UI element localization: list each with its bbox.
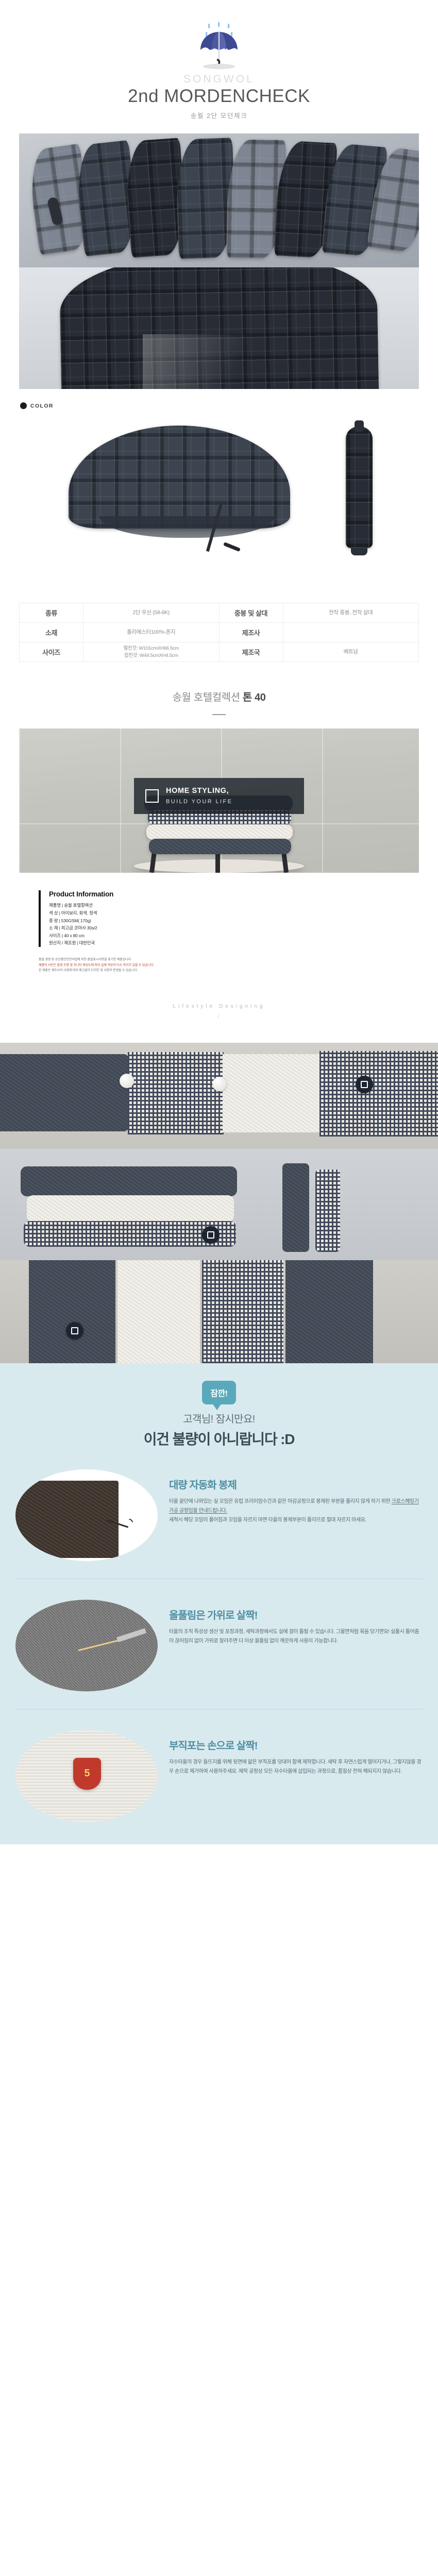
list-item: 원산지 / 제조원 | 대한민국 <box>49 939 399 947</box>
towel-hem-thread-photo <box>15 1469 158 1561</box>
spec-key: 제조사 <box>219 623 283 642</box>
towel-loose-loop-photo <box>15 1600 158 1691</box>
banner-line-2: BUILD YOUR LIFE <box>166 799 232 805</box>
page-subtitle: 송월 2단 모던체크 <box>0 110 438 120</box>
towel-section-title: 송월 호텔컬렉션 톤 40 <box>0 689 438 704</box>
lifestyle-divider: Lifestyle Designing / <box>0 974 438 1043</box>
list-item: 색 상 | 아이보리, 회색, 청색 <box>49 909 399 917</box>
umbrella-rain-icon <box>188 21 250 71</box>
towel-nonwoven-crest-photo: 5 <box>15 1730 158 1822</box>
towel-detail-photo-folded-stack <box>0 1043 438 1149</box>
product-information-block: Product Information 제품명 | 송월 호텔컬렉션 색 상 |… <box>39 890 399 947</box>
attention-badge: 잠깐! <box>202 1381 236 1404</box>
feature-body: 타올의 조직 특성상 생산 및 포장과정, 세탁과정에서도 실에 걸이 틀릴 수… <box>169 1628 423 1646</box>
feature-text: 대량 자동화 봉제 타올 끝단에 나와있는 실 꼬임은 유럽 프리미엄수건과 같… <box>169 1469 423 1526</box>
towel-hero-photo: HOME STYLING, BUILD YOUR LIFE <box>19 728 419 873</box>
spec-value <box>283 623 419 642</box>
brand-eyebrow: SONGWOL <box>0 73 438 85</box>
list-item: 제품명 | 송월 호텔컬렉션 <box>49 902 399 909</box>
list-item: 소 재 | 최고급 코마사 30s/2 <box>49 924 399 932</box>
feature-title: 올풀림은 가위로 살짝! <box>169 1607 423 1622</box>
towel-detail-photo-hanging <box>0 1260 438 1363</box>
blue-headline-big: 이건 불량이 아니랍니다 :D <box>0 1428 438 1449</box>
stool <box>134 859 304 873</box>
feature-body-after: 세척시 헤당 꼬임이 풀어짐과 꼬임을 자르지 마면 타올의 봉제부분이 풀리므… <box>169 1517 366 1523</box>
divider <box>15 1709 423 1709</box>
color-section-header: COLOR <box>19 402 419 409</box>
towel-section-header: 송월 호텔컬렉션 톤 40 <box>0 662 438 715</box>
feature-title: 부직포는 손으로 살짝! <box>169 1737 423 1752</box>
crest-emblem: 5 <box>73 1758 101 1790</box>
color-swatch-black[interactable] <box>20 402 27 409</box>
spec-key: 소재 <box>20 623 83 642</box>
spec-value: 폴리에스터100%-폰지 <box>83 623 220 642</box>
page-title: 2nd MORDENCHECK <box>0 86 438 107</box>
towel-title-plain: 송월 호텔컬렉션 <box>173 692 243 703</box>
product-information-heading: Product Information <box>49 890 399 898</box>
spec-key: 중봉 및 살대 <box>219 603 283 623</box>
blue-headline-small: 고객님! 잠시만요! <box>0 1411 438 1426</box>
feature-row: 5 부직포는 손으로 살짝! 자수타올의 경우 들뜨지를 위해 뒷면에 얇은 부… <box>15 1730 423 1822</box>
feature-text: 부직포는 손으로 살짝! 자수타올의 경우 들뜨지를 위해 뒷면에 얇은 부직포… <box>169 1730 423 1776</box>
list-item: 중 량 | 530GSM( 170g) <box>49 917 399 925</box>
attention-badge-label: 잠깐! <box>210 1386 227 1399</box>
product-photo-canopy-closeup <box>19 267 419 389</box>
product-photo-color-variant <box>19 414 419 584</box>
feature-body: 자수타올의 경우 들뜨지를 위해 뒷면에 얇은 부직포를 덧대어 함께 제작합니… <box>169 1758 423 1776</box>
list-item: 사이즈 | 40 x 80 cm <box>49 932 399 940</box>
table-row: 소재 폴리에스터100%-폰지 제조사 <box>20 623 419 642</box>
table-row: 사이즈 펼친것: W101cmXH66.5cm 접힌것: W44.5cmXH4.… <box>20 642 419 662</box>
spec-table-wrap: 종류 2단 우산 (58-8K) 중봉 및 살대 전착 중봉, 전착 살대 소재… <box>19 603 419 662</box>
feature-row: 올풀림은 가위로 살짝! 타올의 조직 특성상 생산 및 포장과정, 세탁과정에… <box>15 1600 423 1691</box>
product-photo-folded-lineup <box>19 133 419 267</box>
brand-emblem <box>356 1076 373 1093</box>
legal-notes: 품질 경영 및 공산품안전관리법에 의한 품질표시사항을 표기한 제품입니다. … <box>39 957 399 974</box>
spec-value: 펼친것: W101cmXH66.5cm 접힌것: W44.5cmXH4.5cm <box>83 642 220 662</box>
frame-icon <box>145 789 159 803</box>
legal-line: 본 제품은 제조사의 사정에 따라 예고없이 디자인 및 사양이 변경될 수 있… <box>39 968 399 974</box>
towel-detail-photo-rolled <box>0 1149 438 1260</box>
product-detail-page: SONGWOL 2nd MORDENCHECK 송월 2단 모던체크 <box>0 0 438 1844</box>
spec-value: 베트남 <box>283 642 419 662</box>
hero-header: SONGWOL 2nd MORDENCHECK 송월 2단 모던체크 <box>0 0 438 133</box>
brand-emblem <box>202 1226 220 1244</box>
feature-text: 올풀림은 가위로 살짝! 타올의 조직 특성상 생산 및 포장과정, 세탁과정에… <box>169 1600 423 1646</box>
color-label: COLOR <box>30 403 54 409</box>
spec-key: 종류 <box>20 603 83 623</box>
spec-key: 제조국 <box>219 642 283 662</box>
spec-value: 전착 중봉, 전착 살대 <box>283 603 419 623</box>
home-styling-banner: HOME STYLING, BUILD YOUR LIFE <box>134 778 304 814</box>
spec-key: 사이즈 <box>20 642 83 662</box>
towel-title-bold: 톤 40 <box>243 692 266 703</box>
banner-line-1: HOME STYLING, <box>166 787 229 795</box>
table-row: 종류 2단 우산 (58-8K) 중봉 및 살대 전착 중봉, 전착 살대 <box>20 603 419 623</box>
feature-body-before: 타올 끝단에 나와있는 실 꼬임은 유럽 프리미엄수건과 같은 마감공정으로 봉… <box>169 1499 392 1504</box>
legal-line: 품질 경영 및 공산품안전관리법에 의한 품질표시사항을 표기한 제품입니다. <box>39 957 399 963</box>
divider <box>15 1579 423 1579</box>
lifestyle-line-2: / <box>0 1014 438 1019</box>
feature-title: 대량 자동화 봉제 <box>169 1477 423 1492</box>
spec-value: 2단 우산 (58-8K) <box>83 603 220 623</box>
not-a-defect-section: 잠깐! 고객님! 잠시만요! 이건 불량이 아니랍니다 :D 대량 자동화 봉제… <box>0 1363 438 1844</box>
snap-button <box>212 1077 227 1091</box>
divider <box>212 714 226 715</box>
brand-emblem <box>66 1322 83 1340</box>
spec-table: 종류 2단 우산 (58-8K) 중봉 및 살대 전착 중봉, 전착 살대 소재… <box>19 603 419 662</box>
product-information-list: 제품명 | 송월 호텔컬렉션 색 상 | 아이보리, 회색, 청색 중 량 | … <box>49 902 399 947</box>
feature-body: 타올 끝단에 나와있는 실 꼬임은 유럽 프리미엄수건과 같은 마감공정으로 봉… <box>169 1497 423 1526</box>
snap-button <box>120 1074 134 1088</box>
feature-row: 대량 자동화 봉제 타올 끝단에 나와있는 실 꼬임은 유럽 프리미엄수건과 같… <box>15 1469 423 1561</box>
lifestyle-line-1: Lifestyle Designing <box>0 1004 438 1009</box>
legal-line: 제품의 사진은 촬영 조명 및 모니터 해상도에 따라 실제 색상과 다소 차이… <box>39 963 399 969</box>
